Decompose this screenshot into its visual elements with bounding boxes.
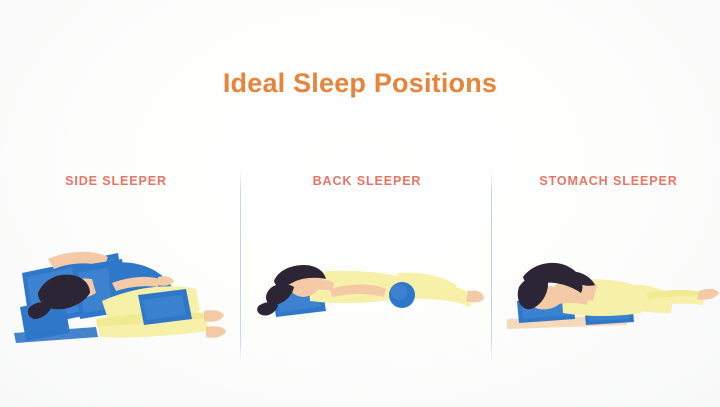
column-header-stomach-sleeper: STOMACH SLEEPER <box>497 174 720 188</box>
round-knee-bolster-icon <box>389 282 415 308</box>
column-header-side-sleeper: SIDE SLEEPER <box>0 174 232 188</box>
illustration-stomach-sleeper <box>497 215 720 365</box>
column-stomach-sleeper: STOMACH SLEEPER <box>497 155 720 370</box>
foot-lower-shape <box>206 326 226 338</box>
yellow-pajama-leg <box>426 284 474 307</box>
column-back-sleeper: BACK SLEEPER <box>248 155 486 370</box>
column-side-sleeper: SIDE SLEEPER <box>0 155 232 370</box>
page-title: Ideal Sleep Positions <box>0 68 720 99</box>
column-divider-2 <box>491 168 492 363</box>
foot-shape <box>697 289 719 300</box>
column-divider-1 <box>240 168 241 363</box>
hand-shape <box>158 276 174 286</box>
illustration-side-sleeper <box>0 215 232 365</box>
illustration-back-sleeper <box>248 215 486 365</box>
column-header-back-sleeper: BACK SLEEPER <box>248 174 486 188</box>
infographic-canvas: Ideal Sleep Positions SIDE SLEEPER <box>0 0 720 407</box>
knee-pillow-icon <box>138 289 192 325</box>
foot-shape <box>466 290 484 302</box>
foot-upper-shape <box>204 310 224 322</box>
